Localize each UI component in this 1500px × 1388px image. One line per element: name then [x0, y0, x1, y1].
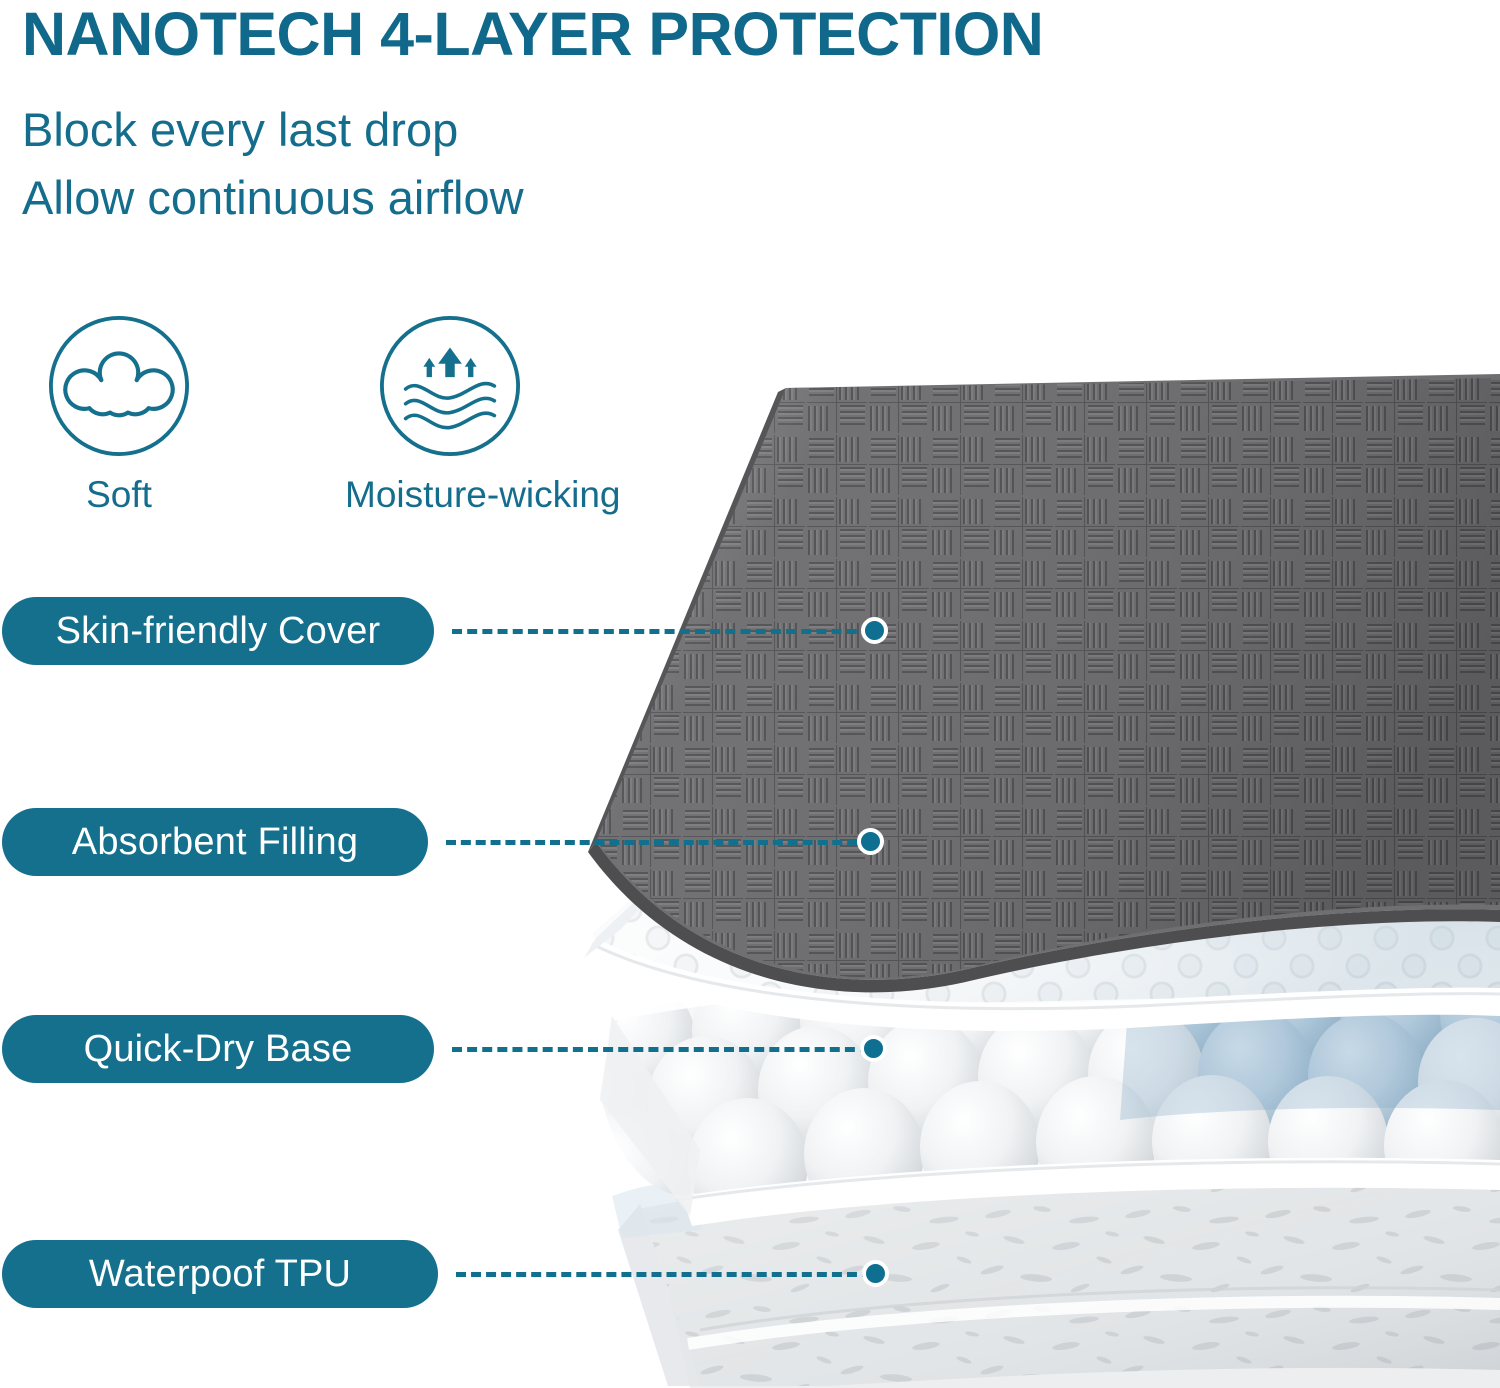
- infographic-canvas: NANOTECH 4-LAYER PROTECTION Block every …: [0, 0, 1500, 1388]
- layer-stack-illustration: [0, 0, 1500, 1388]
- leader-dot-quick-dry-base: [860, 1035, 887, 1062]
- leader-line-waterproof-tpu: [456, 1272, 872, 1277]
- leader-dot-skin-friendly-cover: [861, 617, 888, 644]
- leader-line-skin-friendly-cover: [452, 629, 872, 634]
- layer-skin-friendly-cover: [560, 360, 1500, 1000]
- leader-line-quick-dry-base: [452, 1047, 870, 1052]
- leader-line-absorbent-filling: [446, 840, 872, 845]
- leader-dot-waterproof-tpu: [862, 1260, 889, 1287]
- leader-dot-absorbent-filling: [857, 828, 884, 855]
